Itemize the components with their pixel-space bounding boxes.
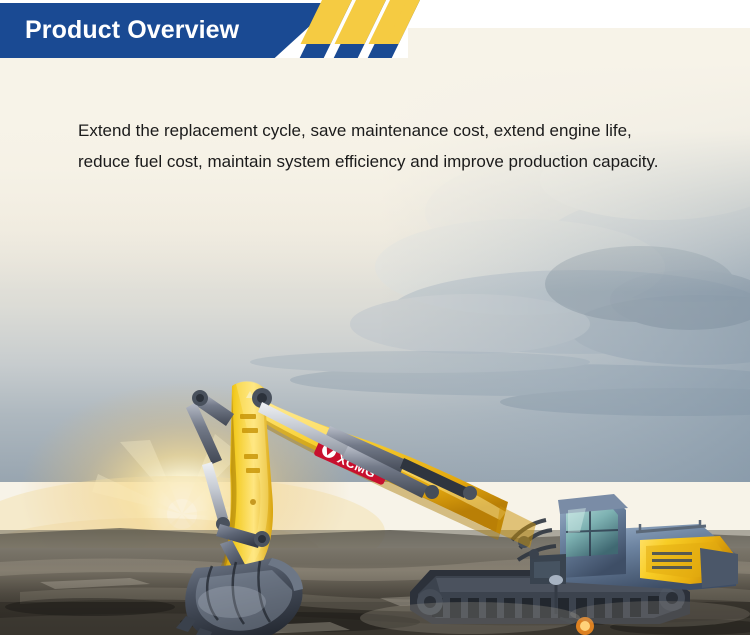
product-overview-paragraph: Extend the replacement cycle, save maint…	[78, 115, 678, 177]
header-beige-right	[408, 28, 750, 62]
section-header: Product Overview	[0, 0, 750, 62]
header-stripe-yellow-a	[301, 0, 339, 44]
header-stripe-yellow-c	[369, 0, 407, 44]
header-stripe-yellow-b	[335, 0, 373, 44]
page-title: Product Overview	[25, 3, 239, 58]
product-overview-page: XCMG	[0, 0, 750, 635]
header-stripe-overlay	[300, 0, 440, 62]
